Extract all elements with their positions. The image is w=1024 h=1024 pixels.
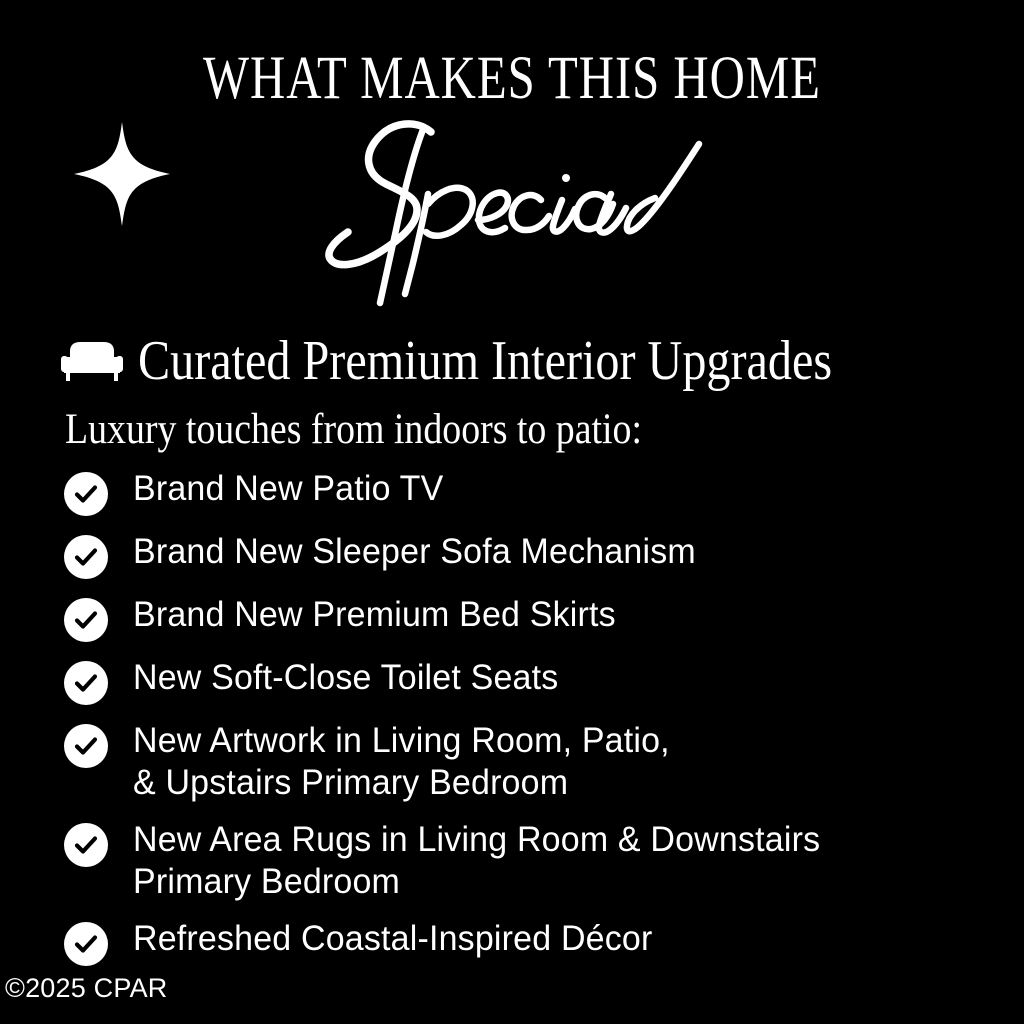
check-circle-icon	[64, 922, 108, 966]
list-item: New Soft-Close Toilet Seats	[64, 657, 1004, 705]
list-item-label: Brand New Patio TV	[133, 468, 443, 510]
copyright-notice: ©2025 CPAR	[5, 975, 167, 1002]
list-item-label: New Artwork in Living Room, Patio, & Ups…	[133, 720, 670, 804]
upgrades-checklist: Brand New Patio TV Brand New Sleeper Sof…	[64, 468, 1004, 981]
page-title-eyebrow: WHAT MAKES THIS HOME	[102, 48, 921, 109]
list-item: Brand New Sleeper Sofa Mechanism	[64, 531, 1004, 579]
check-circle-icon	[64, 598, 108, 642]
section-title: Curated Premium Interior Upgrades	[138, 333, 832, 389]
list-item: Brand New Premium Bed Skirts	[64, 594, 1004, 642]
check-circle-icon	[64, 472, 108, 516]
check-circle-icon	[64, 535, 108, 579]
check-circle-icon	[64, 724, 108, 768]
list-item: New Artwork in Living Room, Patio, & Ups…	[64, 720, 1004, 804]
check-circle-icon	[64, 661, 108, 705]
sofa-icon	[60, 339, 124, 383]
list-item-label: Brand New Premium Bed Skirts	[133, 594, 616, 636]
list-item-label: New Soft-Close Toilet Seats	[133, 657, 558, 699]
check-circle-icon	[64, 823, 108, 867]
list-item-label: New Area Rugs in Living Room & Downstair…	[133, 819, 820, 903]
list-item: Refreshed Coastal-Inspired Décor	[64, 918, 1004, 966]
poster-canvas: WHAT MAKES THIS HOME Special	[0, 0, 1024, 1024]
section-subtitle: Luxury touches from indoors to patio:	[65, 408, 642, 451]
list-item: New Area Rugs in Living Room & Downstair…	[64, 819, 1004, 903]
four-point-star-icon	[74, 122, 170, 226]
list-item-label: Brand New Sleeper Sofa Mechanism	[133, 531, 696, 573]
list-item-label: Refreshed Coastal-Inspired Décor	[133, 918, 652, 960]
script-headline-special: Special	[300, 108, 730, 308]
list-item: Brand New Patio TV	[64, 468, 1004, 516]
section-heading: Curated Premium Interior Upgrades	[60, 330, 945, 392]
